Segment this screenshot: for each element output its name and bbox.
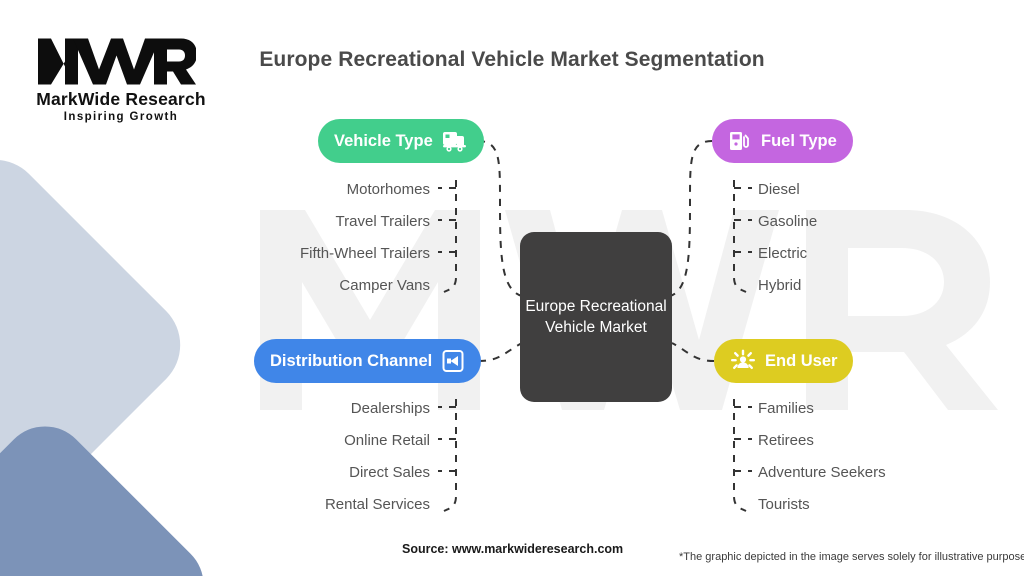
branch-node-end-user[interactable]: End User — [714, 339, 853, 383]
leaf-item: Fifth-Wheel Trailers — [180, 238, 430, 270]
fuel-pump-icon — [728, 129, 752, 153]
leaf-item: Families — [758, 393, 1008, 425]
leaf-item: Online Retail — [180, 425, 430, 457]
leaf-item: Electric — [758, 238, 1008, 270]
leaf-item: Gasoline — [758, 206, 1008, 238]
branch-node-distribution-channel[interactable]: Distribution Channel — [254, 339, 481, 383]
leaf-item: Diesel — [758, 174, 1008, 206]
leaf-list-distribution-channel: Dealerships Online Retail Direct Sales R… — [180, 393, 430, 521]
branch-label-fuel-type: Fuel Type — [761, 132, 837, 151]
branch-label-distribution-channel: Distribution Channel — [270, 352, 432, 371]
network-users-icon — [730, 349, 756, 373]
center-node-label: Europe Recreational Vehicle Market — [520, 296, 672, 338]
rv-camper-icon — [442, 130, 468, 152]
leaf-list-vehicle-type: Motorhomes Travel Trailers Fifth-Wheel T… — [180, 174, 430, 302]
center-node: Europe Recreational Vehicle Market — [520, 232, 672, 402]
infographic-canvas: MarkWide Research Inspiring Growth Europ… — [0, 0, 1024, 576]
leaf-list-fuel-type: Diesel Gasoline Electric Hybrid — [758, 174, 1008, 302]
leaf-item: Motorhomes — [180, 174, 430, 206]
share-arrow-icon — [441, 349, 465, 373]
branch-label-end-user: End User — [765, 352, 837, 371]
branch-node-fuel-type[interactable]: Fuel Type — [712, 119, 853, 163]
leaf-item: Rental Services — [180, 489, 430, 521]
source-text: Source: www.markwideresearch.com — [402, 542, 623, 556]
leaf-item: Camper Vans — [180, 270, 430, 302]
leaf-item: Hybrid — [758, 270, 1008, 302]
leaf-item: Travel Trailers — [180, 206, 430, 238]
leaf-item: Retirees — [758, 425, 1008, 457]
leaf-item: Tourists — [758, 489, 1008, 521]
leaf-item: Direct Sales — [180, 457, 430, 489]
branch-label-vehicle-type: Vehicle Type — [334, 132, 433, 151]
leaf-list-end-user: Families Retirees Adventure Seekers Tour… — [758, 393, 1008, 521]
leaf-item: Dealerships — [180, 393, 430, 425]
disclaimer-text: *The graphic depicted in the image serve… — [679, 551, 1024, 563]
branch-node-vehicle-type[interactable]: Vehicle Type — [318, 119, 484, 163]
leaf-item: Adventure Seekers — [758, 457, 1008, 489]
